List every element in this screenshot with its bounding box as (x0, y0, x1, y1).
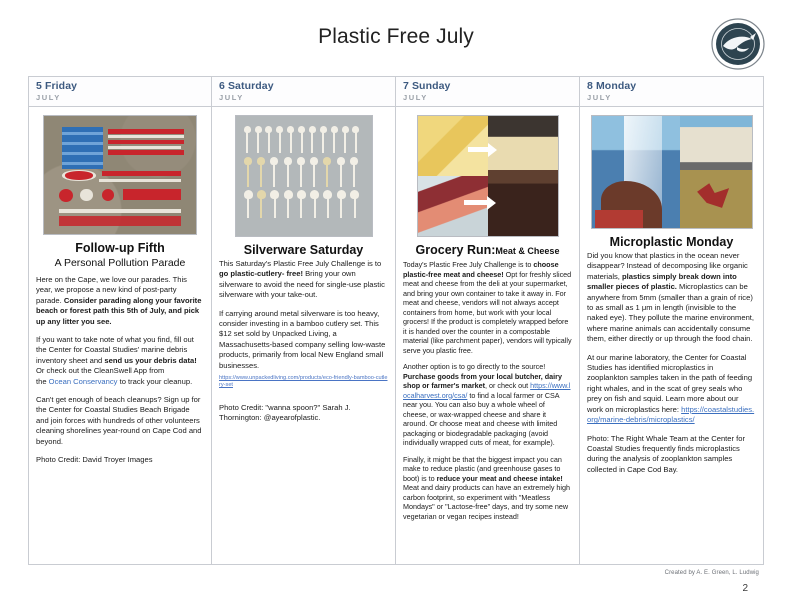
text: Today's Plastic Free July Challenge is t… (403, 260, 533, 269)
text: Microplastics can be anywhere from 5mm (… (587, 282, 754, 343)
plastic-spoon (270, 157, 278, 165)
text: This Saturday's Plastic Free July Challe… (219, 259, 381, 268)
plastic-spoon (265, 126, 272, 133)
day-header-friday-5: 5 Friday JULY (29, 77, 211, 107)
paragraph: Photo Credit: "wanna spoon?" Sarah J. Th… (219, 403, 388, 424)
page-header: Plastic Free July (0, 0, 792, 74)
day-month-label: JULY (36, 92, 204, 103)
text: Photo Credit: David Troyer Images (36, 455, 153, 464)
bold-text: send us your debris data! (104, 356, 196, 365)
calendar-week-grid: 5 Friday JULY (28, 76, 764, 565)
paragraph: If carrying around metal silverware is t… (219, 309, 388, 371)
center-for-coastal-studies-logo-icon (710, 16, 766, 72)
text: , or check out (485, 381, 530, 390)
day-column-monday-8: 8 Monday JULY Microplastic Monday Did yo… (580, 77, 764, 564)
paragraph: Photo Credit: David Troyer Images (36, 455, 204, 465)
text: Opt for freshly sliced meat and cheese f… (403, 270, 572, 355)
day-body-monday-8: Microplastic Monday Did you know that pl… (580, 107, 763, 564)
day-name-label: 6 Saturday (219, 80, 388, 92)
plastic-spoon (337, 157, 345, 165)
bold-text: reduce your meat and cheese intake! (437, 474, 563, 483)
plastic-spoon (284, 157, 292, 165)
plastic-spoon (255, 126, 262, 133)
external-link[interactable]: https://www.unpackedliving.com/products/… (219, 375, 388, 389)
paragraph: Finally, it might be that the biggest im… (403, 455, 572, 522)
plastic-spoon (350, 190, 359, 199)
highlighted-text: Ocean Conservancy (49, 377, 118, 386)
plastic-spoon (257, 157, 265, 165)
page-number: 2 (742, 583, 748, 594)
paragraph: Here on the Cape, we love our parades. T… (36, 275, 204, 327)
plastic-spoon (287, 126, 294, 133)
plastic-spoon (244, 126, 251, 133)
paragraph: Photo: The Right Whale Team at the Cente… (587, 434, 756, 476)
day-name-label: 5 Friday (36, 80, 204, 92)
text: the (36, 377, 49, 386)
entry-title: Follow-up Fifth (36, 241, 204, 256)
entry-subtitle: A Personal Pollution Parade (36, 257, 204, 270)
day-body-friday-5: Follow-up Fifth A Personal Pollution Par… (29, 107, 211, 564)
day-header-monday-8: 8 Monday JULY (580, 77, 763, 107)
text: If carrying around metal silverware is t… (219, 309, 385, 370)
text: Can't get enough of beach cleanups? Sign… (36, 395, 201, 446)
plastic-spoon (337, 190, 346, 199)
paragraph: Can't get enough of beach cleanups? Sign… (36, 395, 204, 447)
text: Meat and dairy products can have an extr… (403, 483, 570, 521)
page-title: Plastic Free July (0, 25, 792, 49)
plastic-spoon (297, 190, 306, 199)
text: Or check out the CleanSwell App from (36, 366, 164, 375)
entry-title: Grocery Run:Meat & Cheese (403, 243, 572, 259)
paragraph: If you want to take note of what you fin… (36, 335, 204, 387)
day-body-saturday-6: Silverware Saturday This Saturday's Plas… (212, 107, 395, 564)
day-name-label: 7 Sunday (403, 80, 572, 92)
plastic-spoon (323, 157, 331, 165)
paragraph: https://www.unpackedliving.com/products/… (219, 379, 388, 395)
text: to track your cleanup. (117, 377, 192, 386)
photo-microplastics-collage (591, 115, 753, 229)
plastic-spoon (297, 157, 305, 165)
plastic-spoon (270, 190, 279, 199)
plastic-spoon (320, 126, 327, 133)
plastic-spoon (323, 190, 332, 199)
paragraph: At our marine laboratory, the Center for… (587, 353, 756, 426)
plastic-spoon (257, 190, 266, 199)
entry-title-main: Grocery Run: (416, 243, 496, 257)
day-header-saturday-6: 6 Saturday JULY (212, 77, 395, 107)
entry-text-friday-5: Here on the Cape, we love our parades. T… (36, 275, 204, 466)
day-name-label: 8 Monday (587, 80, 756, 92)
plastic-spoon (352, 126, 359, 133)
text: Photo Credit: "wanna spoon?" Sarah J. Th… (219, 403, 351, 422)
plastic-spoon (244, 157, 252, 165)
paragraph: Today's Plastic Free July Challenge is t… (403, 260, 572, 355)
photo-plastic-spoons (235, 115, 373, 237)
entry-text-monday-8: Did you know that plastics in the ocean … (587, 251, 756, 475)
paragraph: This Saturday's Plastic Free July Challe… (219, 259, 388, 301)
bold-text: go plastic-cutlery- free! (219, 269, 303, 278)
entry-title: Silverware Saturday (219, 243, 388, 258)
day-column-sunday-7: 7 Sunday JULY Grocery Run:Meat & Cheese … (396, 77, 580, 564)
paragraph: Did you know that plastics in the ocean … (587, 251, 756, 345)
plastic-spoon (342, 126, 349, 133)
day-body-sunday-7: Grocery Run:Meat & Cheese Today's Plasti… (396, 107, 579, 564)
plastic-spoon (310, 190, 319, 199)
photo-beach-debris-flag (43, 115, 197, 235)
created-by-credit: Created by A. E. Green, L. Ludwig (665, 570, 759, 576)
day-header-sunday-7: 7 Sunday JULY (396, 77, 579, 107)
entry-title: Microplastic Monday (587, 235, 756, 250)
entry-text-sunday-7: Today's Plastic Free July Challenge is t… (403, 260, 572, 521)
day-month-label: JULY (587, 92, 756, 103)
plastic-spoon (276, 126, 283, 133)
text: Another option is to go directly to the … (403, 362, 545, 371)
entry-title-secondary: Meat & Cheese (495, 246, 559, 256)
plastic-spoon (310, 157, 318, 165)
day-column-friday-5: 5 Friday JULY (28, 77, 212, 564)
entry-text-saturday-6: This Saturday's Plastic Free July Challe… (219, 259, 388, 424)
day-month-label: JULY (403, 92, 572, 103)
paragraph: Another option is to go directly to the … (403, 362, 572, 448)
day-column-saturday-6: 6 Saturday JULY Silverware Saturday This… (212, 77, 396, 564)
photo-grocery-meat-cheese-collage (417, 115, 559, 237)
day-month-label: JULY (219, 92, 388, 103)
plastic-spoon (244, 190, 253, 199)
text: Photo: The Right Whale Team at the Cente… (587, 434, 745, 474)
plastic-spoon (350, 157, 358, 165)
plastic-spoon (331, 126, 338, 133)
plastic-spoon (309, 126, 316, 133)
plastic-spoon (284, 190, 293, 199)
plastic-spoon (298, 126, 305, 133)
